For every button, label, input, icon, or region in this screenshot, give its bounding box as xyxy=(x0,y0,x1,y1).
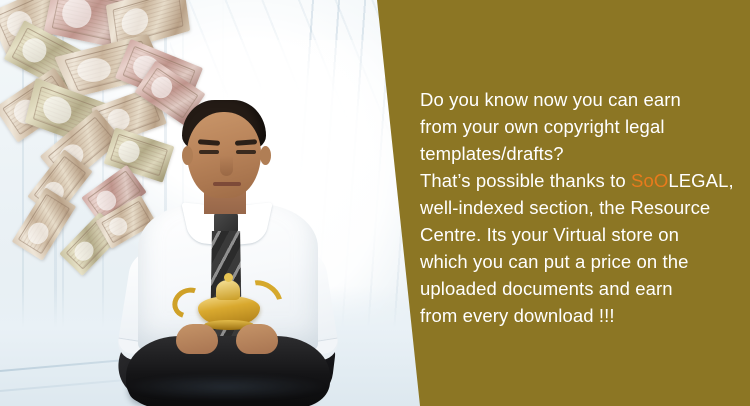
genie-lamp-knob xyxy=(224,273,233,282)
left-hand xyxy=(176,324,218,354)
copy-line-6: Centre. Its your Virtual store on xyxy=(420,221,730,248)
hero-photo xyxy=(0,0,440,406)
copy-line-1: Do you know now you can earn xyxy=(420,86,730,113)
right-ear xyxy=(260,146,271,165)
mouth xyxy=(213,182,241,186)
brand-accent-soo: SoO xyxy=(631,170,668,191)
copy-line-2: from your own copyright legal xyxy=(420,113,730,140)
promotional-banner: Do you know now you can earn from your o… xyxy=(0,0,750,406)
copy-line-4-prefix: That’s possible thanks to xyxy=(420,170,631,191)
floor-reflection xyxy=(126,374,326,400)
copy-line-5: well-indexed section, the Resource xyxy=(420,194,730,221)
genie-lamp-lid xyxy=(216,280,240,300)
copy-line-9: from every download !!! xyxy=(420,302,730,329)
brand-rest-legal: LEGAL, xyxy=(668,170,733,191)
right-eye xyxy=(236,150,256,154)
necktie-knot xyxy=(214,212,238,234)
copy-line-7: which you can put a price on the xyxy=(420,248,730,275)
copy-line-3: templates/drafts? xyxy=(420,140,730,167)
copy-line-4: That’s possible thanks to SoOLEGAL, xyxy=(420,167,730,194)
marketing-copy: Do you know now you can earn from your o… xyxy=(420,86,730,329)
left-ear xyxy=(182,146,193,165)
right-hand xyxy=(236,324,278,354)
nose xyxy=(220,156,233,176)
left-eye xyxy=(199,150,219,154)
businessman-figure xyxy=(120,100,335,406)
copy-line-8: uploaded documents and earn xyxy=(420,275,730,302)
